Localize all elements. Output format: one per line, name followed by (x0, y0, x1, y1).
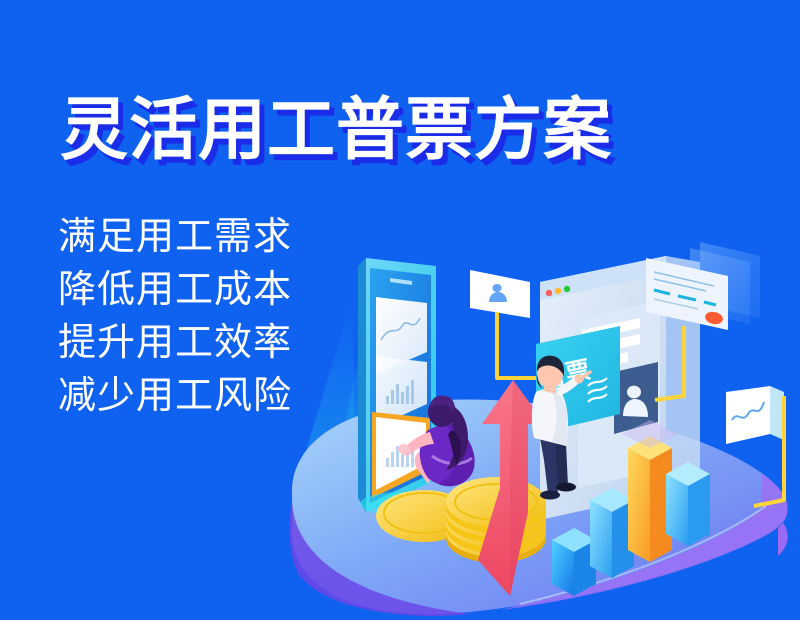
page-title: 灵活用工普票方案 (60, 96, 612, 164)
bar-1 (552, 528, 596, 596)
headline-block: 灵活用工普票方案 满足用工需求 降低用工成本 提升用工效率 减少用工风险 (0, 0, 360, 620)
bar-3 (628, 436, 672, 562)
bullet-item: 降低用工成本 (58, 271, 292, 309)
bullet-list: 满足用工需求 降低用工成本 提升用工效率 减少用工风险 (58, 218, 292, 430)
user-avatar-card[interactable] (470, 270, 530, 318)
bullet-item: 减少用工风险 (58, 377, 292, 415)
bar-4 (666, 462, 710, 546)
bullet-item: 满足用工需求 (58, 218, 292, 256)
bar-2 (590, 488, 634, 578)
yellow-connector-line (497, 312, 536, 378)
promo-banner: 普票 (0, 0, 800, 620)
line-chart-card[interactable] (726, 386, 784, 444)
bullet-item: 提升用工效率 (58, 324, 292, 362)
